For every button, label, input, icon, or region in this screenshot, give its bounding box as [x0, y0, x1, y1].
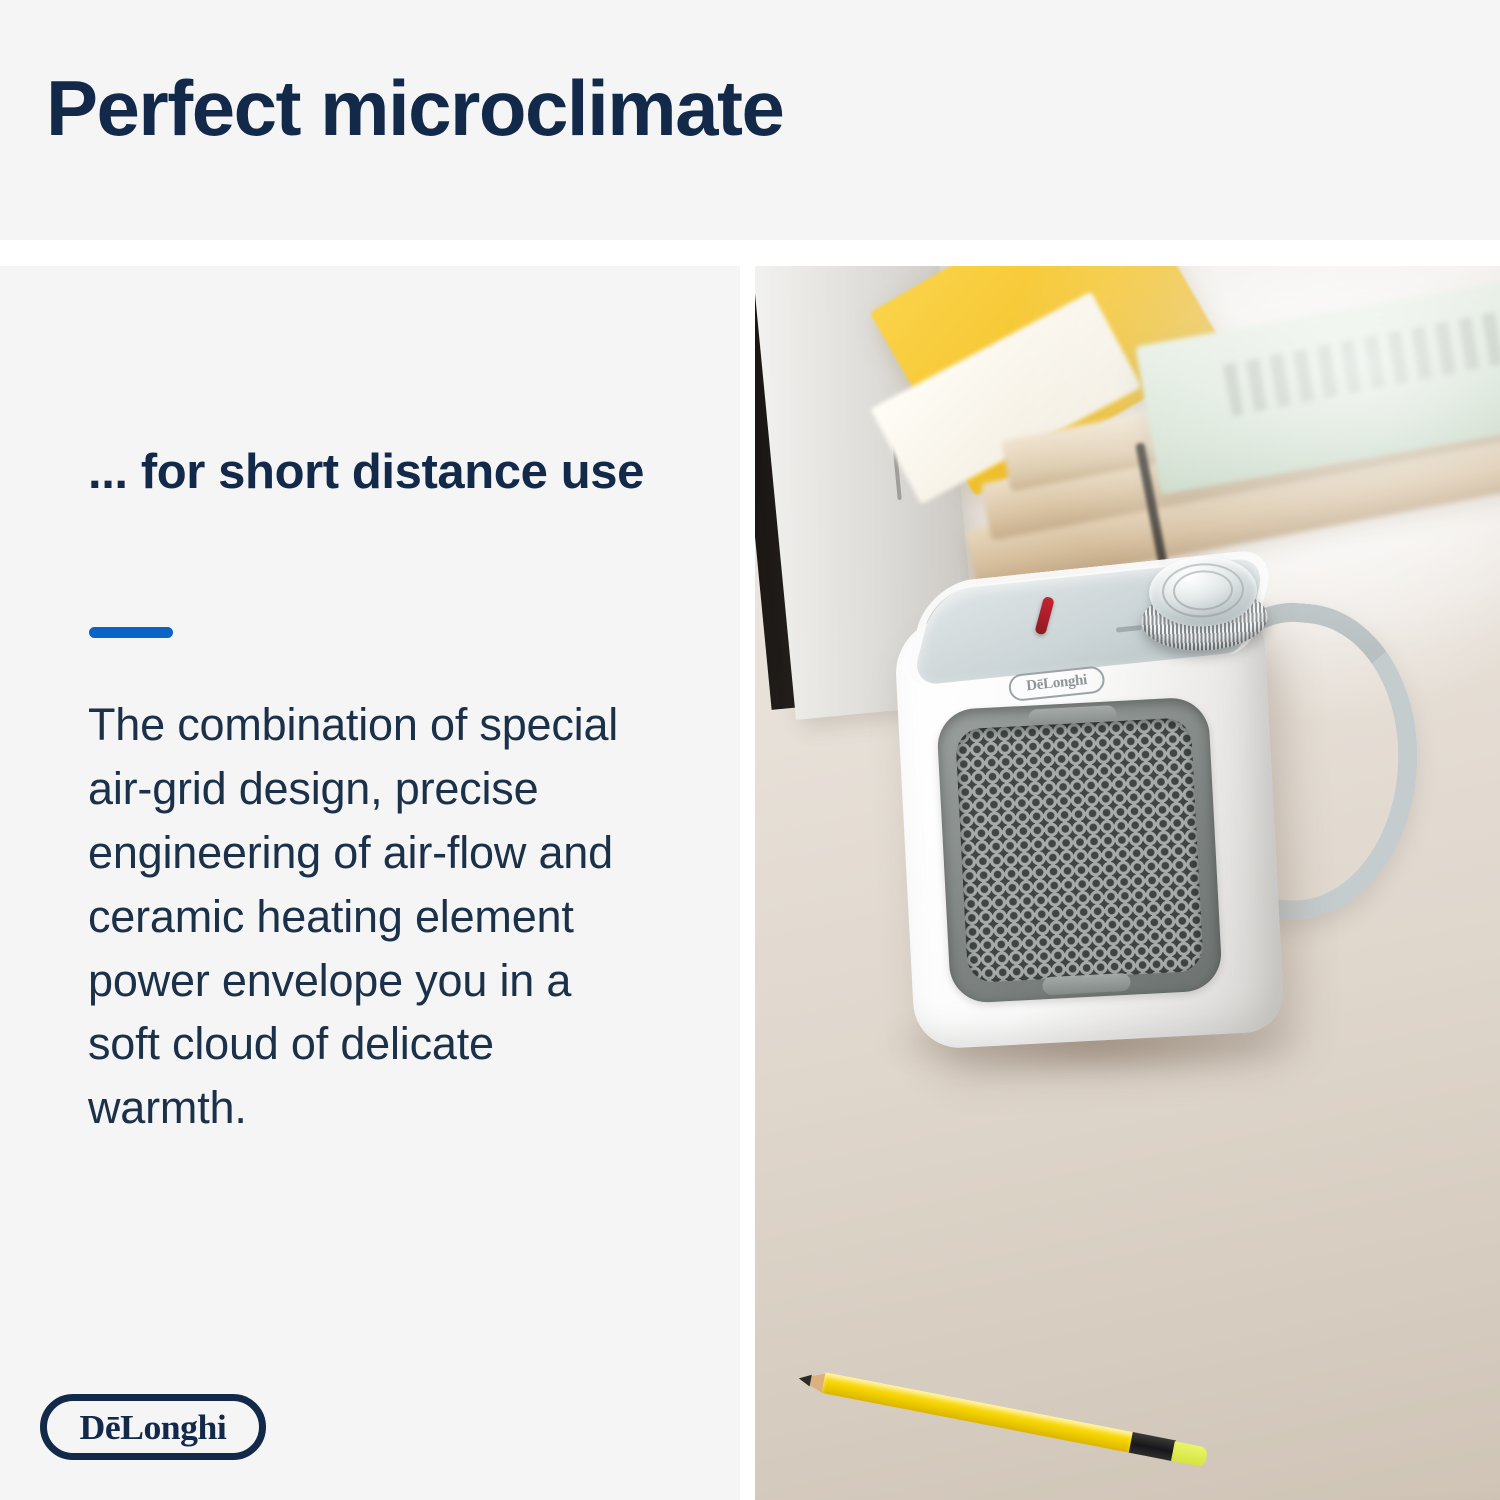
- section-subheading: ... for short distance use: [88, 441, 648, 504]
- pencil-lead: [798, 1372, 812, 1386]
- pencil-ferrule: [1129, 1432, 1176, 1461]
- product-brand-text: DēLonghi: [1025, 672, 1087, 695]
- header-content-divider: [0, 240, 1500, 266]
- accent-rule: [89, 627, 173, 638]
- panel-photo-gutter: [740, 266, 755, 1500]
- body-paragraph: The combination of special air-grid desi…: [88, 693, 650, 1140]
- marketing-product-page: Perfect microclimate ... for short dista…: [0, 0, 1500, 1500]
- air-grid-frame: [936, 696, 1223, 1004]
- air-grid-dimples: [955, 717, 1204, 983]
- ceramic-fan-heater: DēLonghi: [891, 556, 1311, 1050]
- product-photo: DēLonghi: [755, 266, 1500, 1500]
- left-text-panel: ... for short distance use The combinati…: [0, 266, 740, 1500]
- chrome-control-knob[interactable]: [1138, 551, 1269, 663]
- header-band: Perfect microclimate: [0, 0, 1500, 240]
- air-grid-tab-bottom: [1042, 973, 1131, 996]
- delonghi-wordmark: DēLonghi: [80, 1410, 227, 1445]
- pencil-eraser: [1171, 1441, 1208, 1467]
- page-title: Perfect microclimate: [46, 68, 783, 150]
- delonghi-logo: DēLonghi: [40, 1394, 266, 1460]
